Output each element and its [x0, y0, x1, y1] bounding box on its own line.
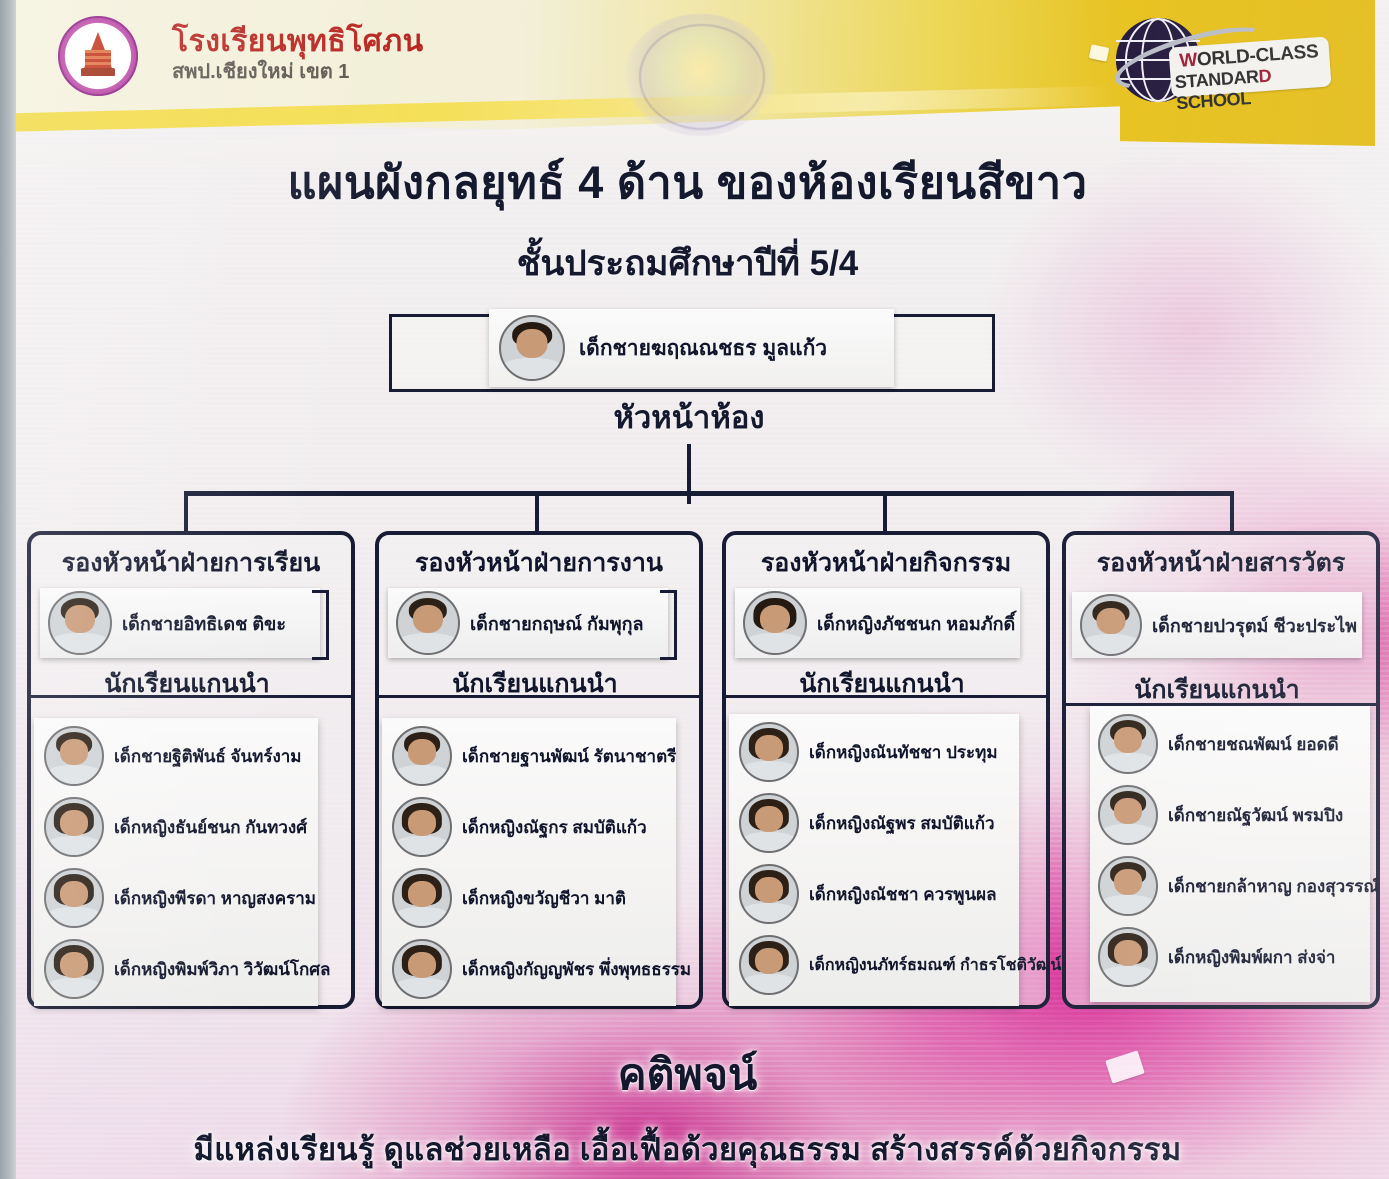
avatar-body — [46, 836, 102, 855]
avatar-face — [517, 329, 548, 358]
world-class-standard-school-logo: WORLD-CLASS STANDARD SCHOOL — [1108, 8, 1338, 114]
avatar-face — [413, 605, 443, 633]
deputy-name: เด็กหญิงภัชชนก หอมภักดิ์ — [817, 609, 1015, 638]
deputy-name: เด็กชายกฤษณ์ กัมพุกุล — [470, 609, 644, 638]
leaders-label-2: นักเรียนแกนนำ — [375, 664, 695, 704]
department-title: รองหัวหน้าฝ่ายกิจกรรม — [726, 543, 1046, 583]
member-name: เด็กหญิงพิมพ์วิภา วิวัฒน์โกศล — [114, 956, 330, 983]
pagoda-rings — [85, 50, 111, 70]
member-name: เด็กหญิงขวัญชีวา มาติ — [462, 885, 626, 912]
list-item: เด็กหญิงพีรดา หาญสงคราม — [44, 868, 316, 928]
avatar-body — [1100, 753, 1156, 772]
member-name: เด็กหญิงนภัทร์ธมณฑ์ กำธรโชติวัฒน์ — [809, 953, 1061, 978]
deputy-card-1: เด็กชายอิทธิเดช ติขะ — [40, 588, 320, 658]
pagoda-seal-icon — [58, 16, 138, 96]
avatar-body — [1082, 634, 1140, 654]
avatar-body — [501, 358, 563, 379]
member-name: เด็กหญิงณัฐพร สมบัติแก้ว — [809, 810, 995, 837]
member-name: เด็กชายฐานพัฒน์ รัตนาชาตรี — [462, 743, 676, 770]
avatar-body — [1100, 895, 1156, 914]
avatar — [1098, 927, 1158, 987]
leaders-label-3: นักเรียนแกนนำ — [722, 664, 1042, 704]
list-item: เด็กชายฐิติพันธ์ จันทร์งาม — [44, 726, 302, 786]
class-leader-role: หัวหน้าห้อง — [389, 392, 989, 442]
deputy-bracket-2 — [660, 590, 677, 660]
avatar — [1098, 714, 1158, 774]
avatar — [1098, 785, 1158, 845]
avatar-body — [398, 633, 458, 653]
avatar — [44, 868, 104, 928]
avatar-face — [65, 605, 95, 633]
avatar-body — [394, 978, 450, 997]
avatar-face — [408, 810, 436, 836]
avatar-face — [760, 605, 790, 633]
avatar-face — [60, 881, 88, 907]
avatar-face — [60, 952, 88, 978]
connector-drop-2 — [535, 491, 539, 531]
avatar-body — [741, 761, 797, 780]
member-name: เด็กหญิงกัญญพัชร พึ่งพุทธธรรม — [462, 956, 691, 983]
list-item: เด็กหญิงกัญญพัชร พึ่งพุทธธรรม — [392, 939, 691, 999]
school-seal-logo — [58, 16, 168, 96]
avatar-face — [408, 952, 436, 978]
avatar — [392, 939, 452, 999]
avatar-body — [1100, 966, 1156, 985]
deputy-name: เด็กชายปวรุตม์ ชีวะประไพ — [1152, 611, 1357, 640]
avatar — [743, 591, 807, 655]
avatar-face — [755, 806, 783, 832]
member-name: เด็กชายฐิติพันธ์ จันทร์งาม — [114, 743, 302, 770]
avatar — [48, 591, 112, 655]
avatar-body — [394, 907, 450, 926]
avatar-body — [741, 832, 797, 851]
avatar — [499, 315, 565, 381]
list-item: เด็กหญิงธันย์ชนก กันทวงศ์ — [44, 797, 307, 857]
member-name: เด็กชายณัฐวัฒน์ พรมปิง — [1168, 802, 1343, 829]
avatar-face — [1114, 727, 1142, 753]
connector-drop-1 — [184, 491, 188, 531]
list-item: เด็กหญิงณัฐพร สมบัติแก้ว — [739, 793, 995, 853]
avatar-face — [1114, 940, 1142, 966]
avatar-body — [741, 974, 797, 993]
avatar-face — [408, 881, 436, 907]
member-name: เด็กหญิงพีรดา หาญสงคราม — [114, 885, 316, 912]
wcs-school: SCHOOL — [1176, 88, 1252, 113]
avatar-face — [1097, 608, 1126, 635]
avatar-body — [394, 836, 450, 855]
avatar-body — [1100, 824, 1156, 843]
list-item: เด็กหญิงณัชชา ควรพูนผล — [739, 864, 997, 924]
avatar — [44, 797, 104, 857]
member-name: เด็กหญิงณัชชา ควรพูนผล — [809, 881, 997, 908]
department-title: รองหัวหน้าฝ่ายสารวัตร — [1066, 543, 1376, 583]
avatar-body — [50, 633, 110, 653]
class-leader-name: เด็กชายฆฤณณชธร มูลแก้ว — [579, 332, 827, 365]
avatar-face — [1114, 869, 1142, 895]
leaders-label-1: นักเรียนแกนนำ — [27, 664, 347, 704]
list-item: เด็กหญิงณันทัชชา ประทุม — [739, 722, 998, 782]
avatar-face — [60, 810, 88, 836]
avatar-face — [755, 877, 783, 903]
member-name: เด็กชายกล้าหาญ กองสุวรรณ์ — [1168, 873, 1379, 900]
department-title: รองหัวหน้าฝ่ายการเรียน — [31, 543, 351, 583]
member-name: เด็กหญิงณัฐกร สมบัติแก้ว — [462, 814, 647, 841]
list-item: เด็กหญิงขวัญชีวา มาติ — [392, 868, 626, 928]
deputy-card-2: เด็กชายกฤษณ์ กัมพุกุล — [388, 588, 668, 658]
list-item: เด็กหญิงนภัทร์ธมณฑ์ กำธรโชติวัฒน์ — [739, 935, 1061, 995]
avatar-face — [755, 735, 783, 761]
wcs-w-letter: W — [1179, 50, 1198, 72]
motto-heading: คติพจน์ — [0, 1040, 1375, 1108]
school-name-th: โรงเรียนพุทธิโศภน — [172, 26, 424, 58]
leaders-label-4: นักเรียนแกนนำ — [1062, 670, 1372, 710]
connector-drop-4 — [1230, 491, 1234, 531]
avatar — [739, 793, 799, 853]
connector-horizontal-bus — [184, 491, 1234, 496]
avatar — [392, 868, 452, 928]
list-item: เด็กชายณัฐวัฒน์ พรมปิง — [1098, 785, 1343, 845]
avatar — [392, 726, 452, 786]
list-item: เด็กหญิงพิมพ์ผกา ส่งจ่า — [1098, 927, 1335, 987]
avatar-body — [741, 903, 797, 922]
page-subtitle: ชั้นประถมศึกษาปีที่ 5/4 — [0, 236, 1375, 291]
department-title: รองหัวหน้าฝ่ายการงาน — [379, 543, 699, 583]
avatar-body — [46, 765, 102, 784]
list-item: เด็กชายกล้าหาญ กองสุวรรณ์ — [1098, 856, 1379, 916]
pagoda-base — [81, 68, 115, 76]
avatar — [44, 726, 104, 786]
avatar — [396, 591, 460, 655]
avatar-body — [394, 765, 450, 784]
motto-text: มีแหล่งเรียนรู้ ดูแลช่วยเหลือ เอื้อเฟื้อ… — [0, 1124, 1375, 1174]
avatar — [392, 797, 452, 857]
list-item: เด็กชายชณพัฒน์ ยอดดี — [1098, 714, 1339, 774]
avatar-face — [408, 739, 436, 765]
connector-drop-3 — [883, 491, 887, 531]
member-name: เด็กชายชณพัฒน์ ยอดดี — [1168, 731, 1339, 758]
deputy-name: เด็กชายอิทธิเดช ติขะ — [122, 609, 286, 638]
avatar — [739, 935, 799, 995]
list-item: เด็กหญิงณัฐกร สมบัติแก้ว — [392, 797, 647, 857]
avatar — [739, 864, 799, 924]
avatar-face — [755, 948, 783, 974]
avatar — [739, 722, 799, 782]
ministry-emblem-watermark — [625, 14, 775, 136]
avatar-body — [745, 633, 805, 653]
deputy-bracket-1 — [312, 590, 329, 660]
avatar-body — [46, 978, 102, 997]
avatar — [1098, 856, 1158, 916]
white-classroom-strategy-chart-poster: โรงเรียนพุทธิโศภน สพป.เชียงใหม่ เขต 1 WO… — [0, 0, 1389, 1179]
avatar-face — [60, 739, 88, 765]
list-item: เด็กหญิงพิมพ์วิภา วิวัฒน์โกศล — [44, 939, 330, 999]
wcs-text-plate: WORLD-CLASS STANDARD SCHOOL — [1168, 36, 1331, 97]
class-leader-card: เด็กชายฆฤณณชธร มูลแก้ว — [489, 309, 894, 387]
wcs-orl: ORL — [1196, 47, 1237, 71]
page-title: แผนผังกลยุทธ์ 4 ด้าน ของห้องเรียนสีขาว — [0, 146, 1375, 218]
school-area-th: สพป.เชียงใหม่ เขต 1 — [172, 62, 424, 83]
avatar-face — [1114, 798, 1142, 824]
member-name: เด็กหญิงธันย์ชนก กันทวงศ์ — [114, 814, 307, 841]
deputy-card-3: เด็กหญิงภัชชนก หอมภักดิ์ — [735, 588, 1020, 658]
avatar-body — [46, 907, 102, 926]
member-name: เด็กหญิงณันทัชชา ประทุม — [809, 739, 998, 766]
board-left-edge — [0, 0, 16, 1179]
list-item: เด็กชายฐานพัฒน์ รัตนาชาตรี — [392, 726, 676, 786]
wcs-d-letter-bottom: D — [1258, 66, 1272, 87]
member-name: เด็กหญิงพิมพ์ผกา ส่งจ่า — [1168, 944, 1335, 971]
school-name-block: โรงเรียนพุทธิโศภน สพป.เชียงใหม่ เขต 1 — [172, 26, 424, 83]
avatar — [44, 939, 104, 999]
avatar — [1080, 594, 1142, 656]
deputy-card-4: เด็กชายปวรุตม์ ชีวะประไพ — [1072, 592, 1362, 658]
